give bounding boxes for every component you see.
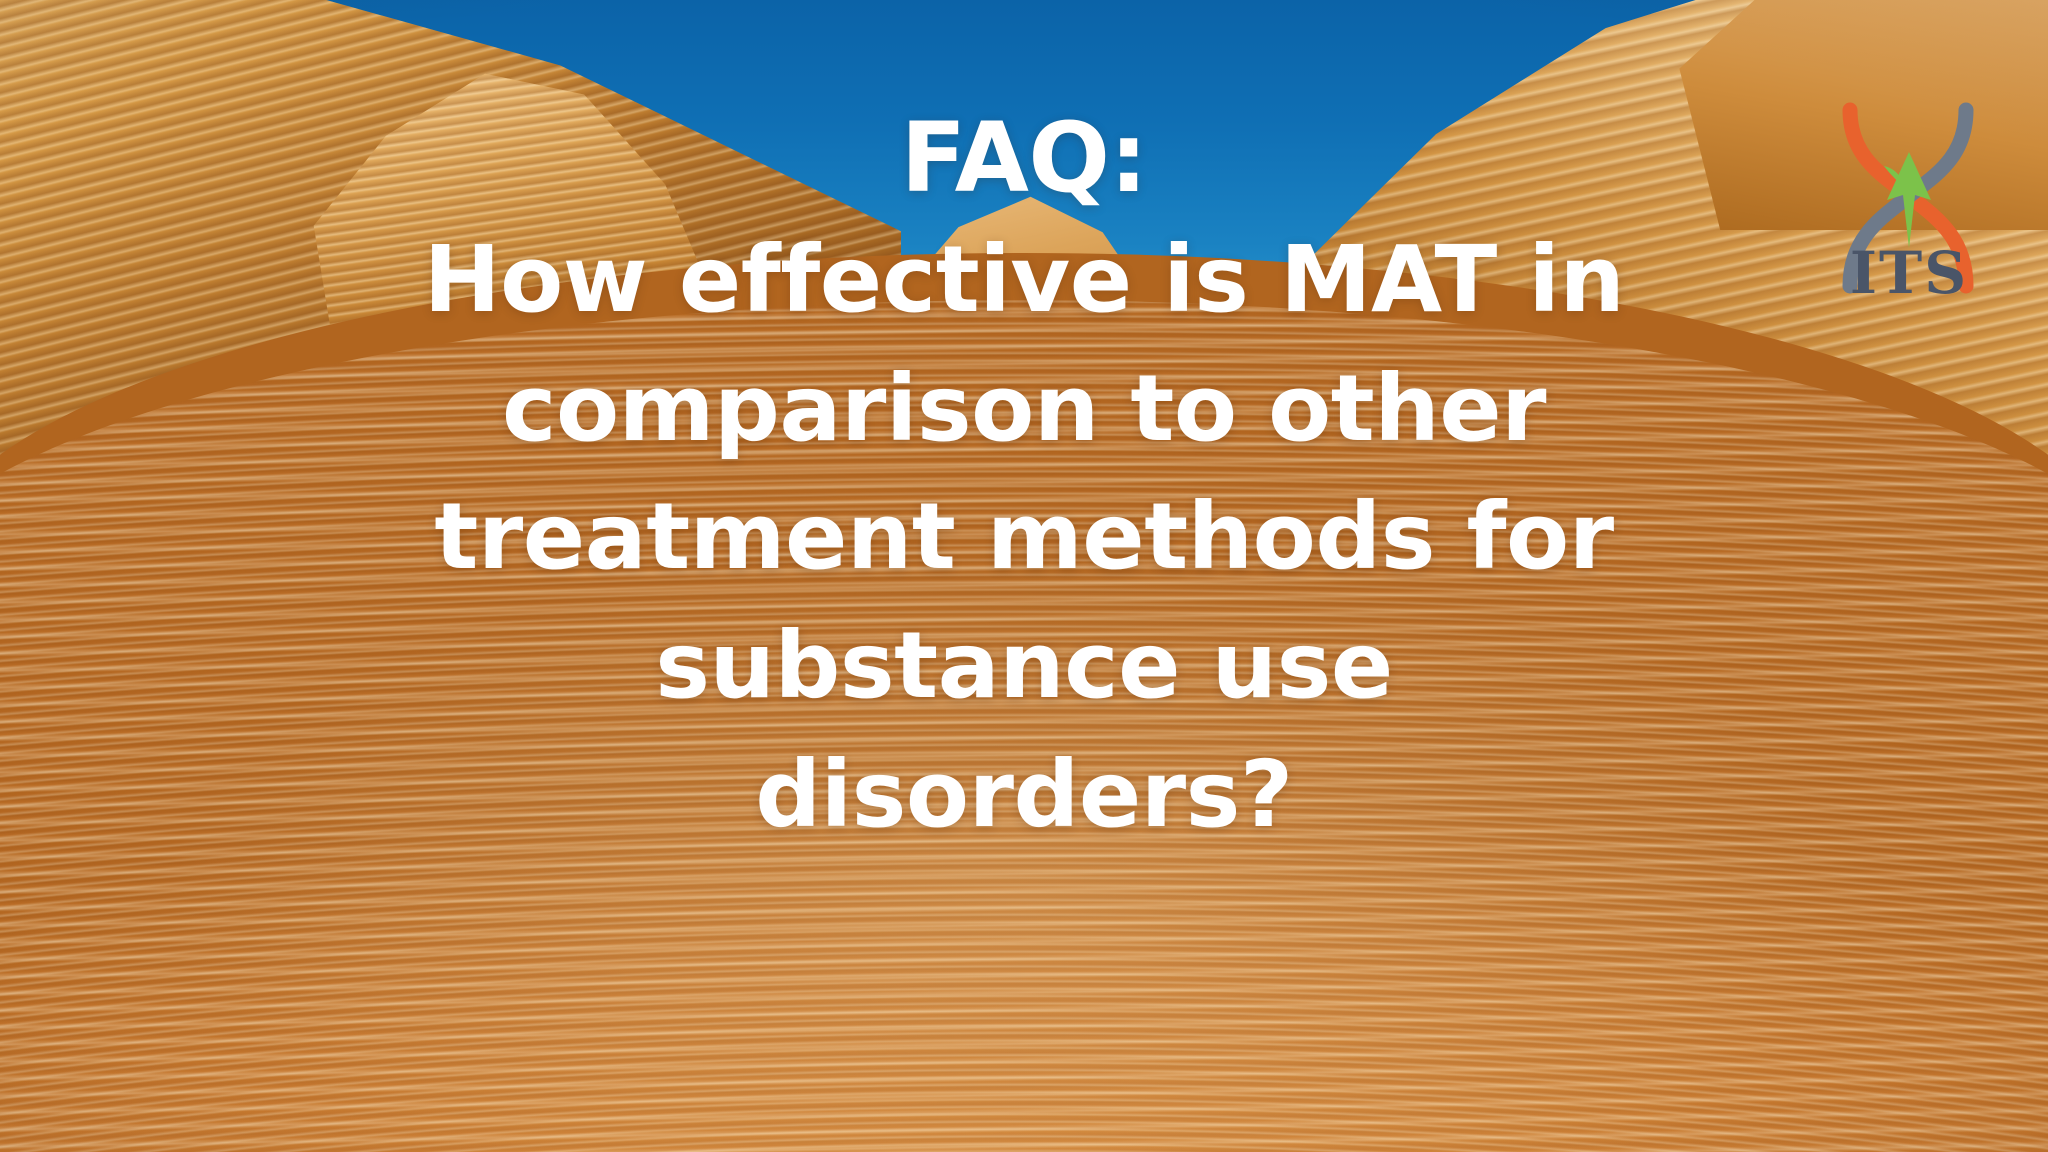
slide-canvas: FAQ: How effective is MAT in comparison …: [0, 0, 2048, 1152]
its-logo: ITS: [1814, 96, 2004, 302]
faq-question: How effective is MAT in comparison to ot…: [394, 216, 1654, 860]
headline-block: FAQ: How effective is MAT in comparison …: [0, 108, 2048, 860]
faq-label: FAQ:: [0, 108, 2048, 210]
its-wordmark: ITS: [1814, 244, 2004, 302]
